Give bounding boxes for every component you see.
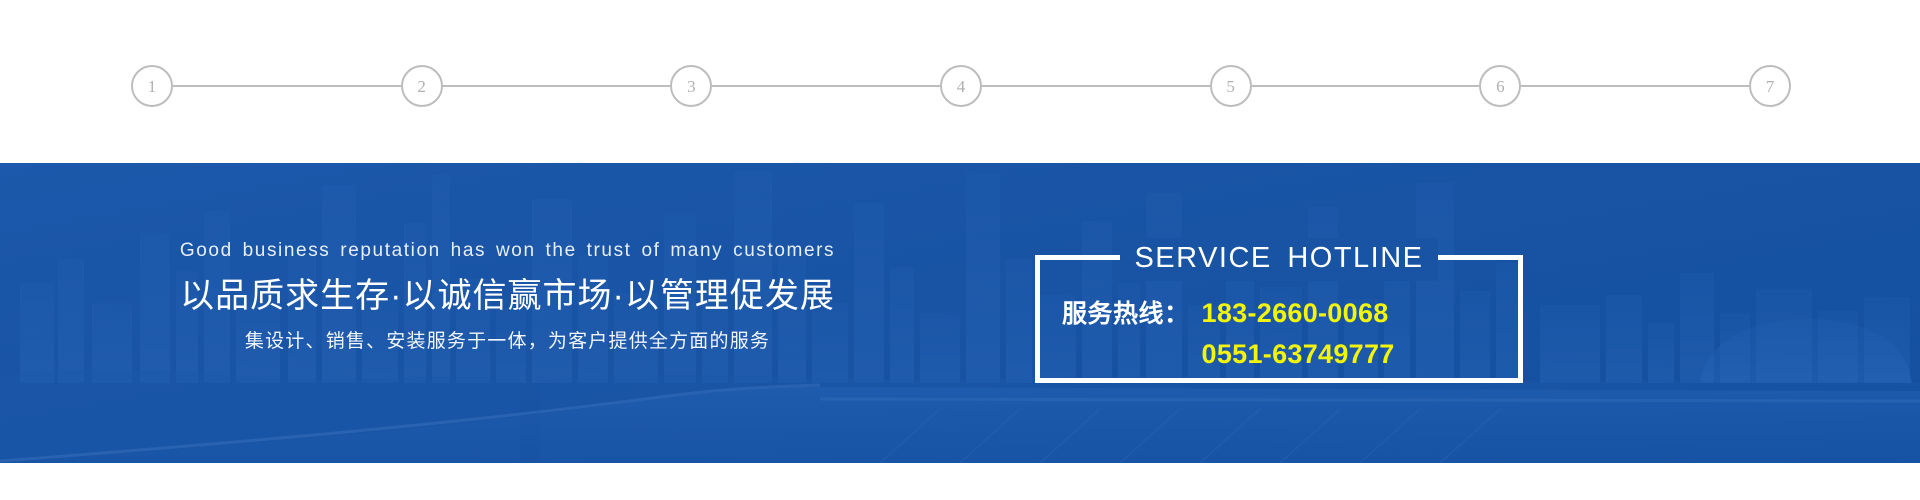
stepper-step-label: 7 — [1766, 78, 1775, 95]
slogan-english-tagline: Good business reputation has won the tru… — [0, 241, 1015, 260]
stepper-step-label: 5 — [1226, 78, 1235, 95]
hotline-secondary-number[interactable]: 0551-63749777 — [1202, 341, 1395, 368]
stepper-connector-line — [1521, 85, 1749, 87]
stepper-connector-line — [712, 85, 940, 87]
stepper-step-3[interactable]: 3 — [670, 65, 712, 107]
hotline-row-primary: 服务热线： 183-2660-0068 — [1062, 300, 1496, 327]
slogan-headline: 以品质求生存·以诚信赢市场·以管理促发展 — [0, 279, 1015, 313]
stepper-step-7[interactable]: 7 — [1749, 65, 1791, 107]
hotline-label: 服务热线： — [1062, 302, 1190, 327]
progress-stepper: 1234567 — [0, 0, 1920, 163]
slogan-block: Good business reputation has won the tru… — [0, 241, 1015, 351]
stepper-step-1[interactable]: 1 — [131, 65, 173, 107]
page-root: 1234567 — [0, 0, 1920, 500]
stepper-step-4[interactable]: 4 — [940, 65, 982, 107]
stepper-connector-line — [173, 85, 401, 87]
service-hotline-rows: 服务热线： 183-2660-0068 服务热线： 0551-63749777 — [1040, 300, 1518, 368]
service-hotline-box: SERVICE HOTLINE 服务热线： 183-2660-0068 服务热线… — [1035, 255, 1523, 383]
stepper-step-label: 3 — [687, 78, 696, 95]
promo-banner: Good business reputation has won the tru… — [0, 163, 1920, 463]
stepper-step-label: 6 — [1496, 78, 1505, 95]
stepper-step-2[interactable]: 2 — [401, 65, 443, 107]
stepper-connector-line — [443, 85, 671, 87]
stepper-section: 1234567 — [0, 0, 1920, 163]
stepper-connector-line — [982, 85, 1210, 87]
stepper-step-label: 2 — [417, 78, 426, 95]
slogan-subtitle: 集设计、销售、安装服务于一体，为客户提供全方面的服务 — [0, 332, 1015, 351]
stepper-connector-line — [1252, 85, 1480, 87]
stepper-step-6[interactable]: 6 — [1479, 65, 1521, 107]
stepper-step-label: 1 — [148, 78, 157, 95]
hotline-row-secondary: 服务热线： 0551-63749777 — [1062, 341, 1496, 368]
hotline-primary-number[interactable]: 183-2660-0068 — [1202, 300, 1389, 327]
stepper-step-label: 4 — [957, 78, 966, 95]
stepper-step-5[interactable]: 5 — [1210, 65, 1252, 107]
